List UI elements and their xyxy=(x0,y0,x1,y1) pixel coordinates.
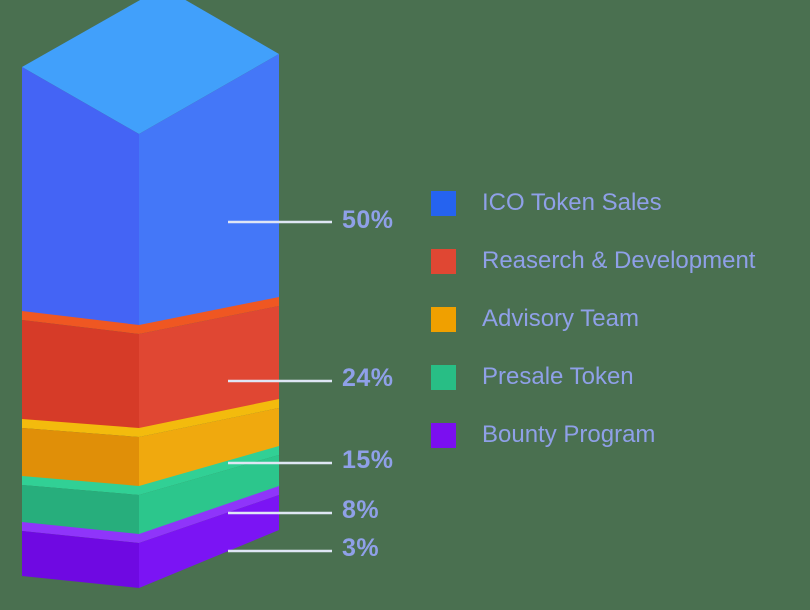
legend-label-bounty-program: Bounty Program xyxy=(482,423,655,447)
legend-item-advisory-team[interactable]: Advisory Team xyxy=(431,290,801,348)
callout-label-8: 8% xyxy=(342,498,379,523)
legend-swatch-icon-ico-token-sales xyxy=(431,191,456,216)
callout-label-50: 50% xyxy=(342,208,394,233)
legend-item-bounty-program[interactable]: Bounty Program xyxy=(431,406,801,464)
legend-swatch-icon-bounty-program xyxy=(431,423,456,448)
legend-label-ico-token-sales: ICO Token Sales xyxy=(482,191,662,215)
legend-swatch-icon-presale-token xyxy=(431,365,456,390)
callout-label-3: 3% xyxy=(342,536,379,561)
segment-ico-token-sales[interactable] xyxy=(22,0,279,331)
callout-label-15: 15% xyxy=(342,448,394,473)
legend-item-ico-token-sales[interactable]: ICO Token Sales xyxy=(431,174,801,232)
segment-left-face-red xyxy=(22,320,139,434)
legend-swatch-icon-advisory-team xyxy=(431,307,456,332)
legend-item-research-and-development[interactable]: Reaserch & Development xyxy=(431,232,801,290)
legend-label-advisory-team: Advisory Team xyxy=(482,307,639,331)
isometric-stacked-bar-chart: 50% 24% 15% 8% 3% ICO Token Sales Reaser… xyxy=(0,0,810,610)
legend-label-research-and-development: Reaserch & Development xyxy=(482,249,755,273)
chart-legend: ICO Token Sales Reaserch & Development A… xyxy=(431,174,801,464)
legend-swatch-icon-research-and-development xyxy=(431,249,456,274)
legend-item-presale-token[interactable]: Presale Token xyxy=(431,348,801,406)
legend-label-presale-token: Presale Token xyxy=(482,365,634,389)
callout-label-24: 24% xyxy=(342,366,394,391)
